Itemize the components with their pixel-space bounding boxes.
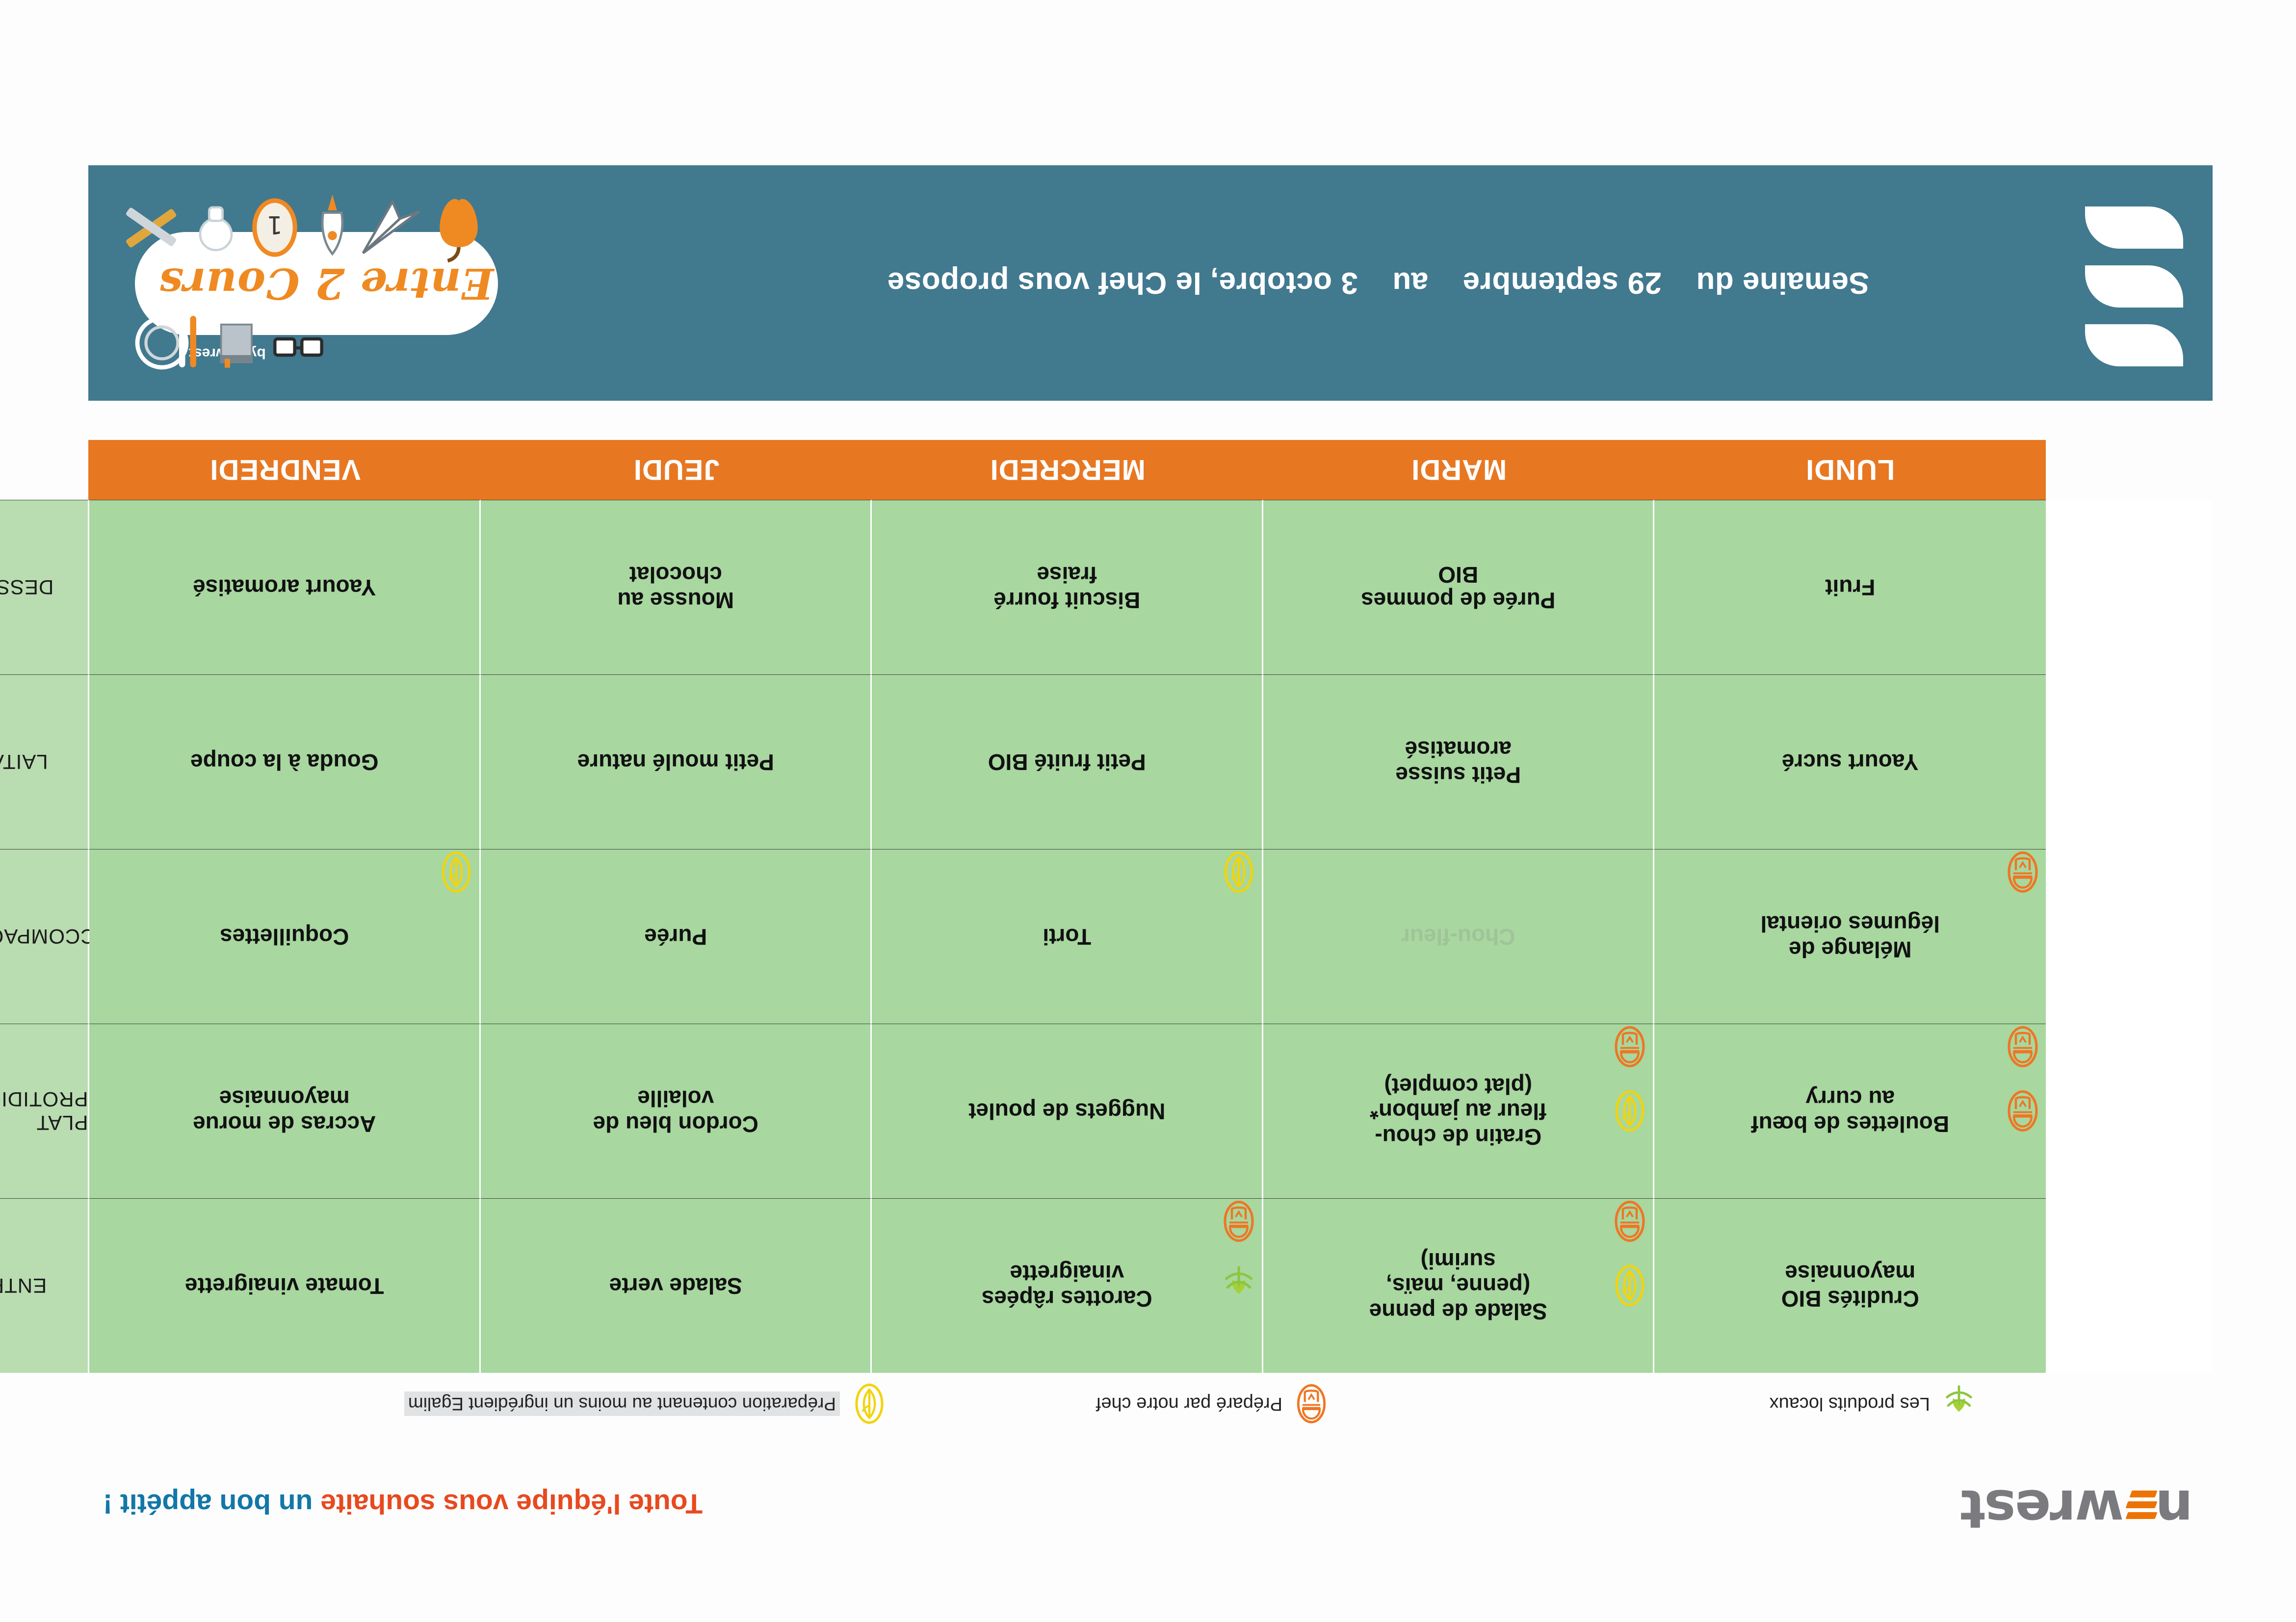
dish-name: Petit fruité BIO: [988, 749, 1146, 775]
menu-cell: Tomate vinaigrette: [90, 1198, 481, 1373]
newrest-n-mark-icon: [2061, 195, 2183, 371]
chef-hat-icon: [1220, 1201, 1258, 1242]
row-label-2: ACCOMPAGNEMENT: [0, 849, 90, 1024]
glasses-icon: [271, 322, 325, 366]
dish-name: Crudités BIO mayonnaise: [1781, 1261, 1919, 1311]
entre-2-cours-logo: Entre 2 Cours by newrest: [115, 186, 518, 382]
legend-bar: Les produits locaux Préparé par notre ch…: [88, 1377, 2213, 1431]
menu-grid: Crudités BIO mayonnaiseSalade de penne (…: [88, 500, 2213, 1373]
menu-cell: Mousse au chocolat: [481, 500, 872, 674]
chef-hat-icon: [2004, 1091, 2042, 1132]
week-date-end: 3 octobre: [1219, 266, 1358, 301]
menu-cell: Purée: [481, 849, 872, 1024]
dish-name: Torti: [1043, 924, 1091, 950]
dish-name: Salade de penne (penne, maïs, surimi): [1369, 1248, 1547, 1324]
dish-name: Yaourt aromatisé: [193, 575, 376, 600]
week-date-start: 29 septembre: [1462, 266, 1662, 301]
chef-hat-icon: [2004, 851, 2042, 893]
menu-cell: Cordon bleu de volaille: [481, 1024, 872, 1198]
appetit-blue-part: un bon appétit !: [103, 1488, 313, 1519]
day-header-lundi: LUNDI: [1655, 440, 2046, 500]
day-header-vendredi: VENDREDI: [90, 440, 481, 500]
legend-label-chef-prepared: Préparé par notre chef: [1096, 1393, 1282, 1415]
menu-cell: Mélange de légumes oriental: [1655, 849, 2046, 1024]
rocket-icon: [309, 190, 356, 258]
menu-cell: Nuggets de poulet: [872, 1024, 1264, 1198]
scanned-menu-sheet: nwrest Toute l'équipe vous souhaite un b…: [0, 0, 2296, 1622]
dish-name: Boulettes de bœuf au curry: [1751, 1086, 1949, 1136]
day-header-mardi: MARDI: [1263, 440, 1655, 500]
dish-name: Petit moulé nature: [577, 749, 774, 775]
menu-cell: Biscuit fourré fraise: [872, 500, 1264, 674]
wheat-ear-icon: [1220, 1265, 1258, 1307]
dish-name: Coquillettes: [220, 924, 349, 950]
day-label: MERCREDI: [990, 454, 1146, 487]
dish-name: Yaourt sucré: [1782, 749, 1919, 775]
row-label-3: LAITAGE: [0, 674, 90, 849]
grid-left-spacer: [2046, 849, 2213, 1024]
pencils-icon: [120, 196, 184, 259]
grid-left-spacer: [2046, 1024, 2213, 1198]
notebook-icon: [209, 317, 262, 371]
week-connector: au: [1392, 266, 1428, 301]
dish-name: Purée: [644, 924, 707, 950]
menu-cell: Chou-fleur: [1263, 849, 1655, 1024]
menu-cell: Purée de pommes BIO: [1263, 500, 1655, 674]
days-header-bar: LUNDIMARDIMERCREDIJEUDIVENDREDI: [88, 440, 2046, 500]
brand-text-n: n: [2156, 1478, 2193, 1539]
menu-cell: Accras de morue mayonnaise: [90, 1024, 481, 1198]
apple-icon: [429, 191, 488, 264]
egalim-leaf-icon: [1611, 1265, 1649, 1307]
egalim-leaf-icon: [1220, 851, 1258, 893]
plate-and-cutlery-icon: [130, 304, 204, 377]
newrest-logo: nwrest: [1961, 1482, 2193, 1535]
dish-name: Biscuit fourré fraise: [993, 562, 1140, 613]
day-label: MARDI: [1411, 454, 1507, 487]
dish-name: Mousse au chocolat: [617, 562, 734, 613]
egalim-leaf-icon: [437, 851, 475, 893]
dish-name: Salade verte: [609, 1273, 742, 1299]
menu-cell: Petit fruité BIO: [872, 674, 1264, 849]
menu-table: Crudités BIO mayonnaiseSalade de penne (…: [88, 500, 2213, 1373]
menu-cell: Torti: [872, 849, 1264, 1024]
week-suffix: , le Chef vous propose: [887, 266, 1219, 301]
menu-cell: Petit moulé nature: [481, 674, 872, 849]
brand-text-wrest: wrest: [1961, 1478, 2124, 1539]
menu-cell: Salade de penne (penne, maïs, surimi): [1263, 1198, 1655, 1373]
menu-cell: Boulettes de bœuf au curry: [1655, 1024, 2046, 1198]
menu-cell: Coquillettes: [90, 849, 481, 1024]
dish-name: Fruit: [1825, 575, 1875, 600]
dish-name: Cordon bleu de volaille: [593, 1086, 758, 1136]
legend-item-local-products: Les produits locaux: [1770, 1377, 1977, 1431]
day-label: VENDREDI: [209, 454, 361, 487]
grid-left-spacer: [2046, 500, 2213, 674]
wheat-ear-icon: [1941, 1384, 1977, 1423]
dish-name: Purée de pommes BIO: [1361, 562, 1555, 613]
bon-appetit-message: Toute l'équipe vous souhaite un bon appé…: [103, 1488, 703, 1520]
day-header-mercredi: MERCREDI: [872, 440, 1264, 500]
dish-name: Petit suisse aromatisé: [1395, 737, 1521, 787]
grid-left-spacer: [2046, 1198, 2213, 1373]
menu-cell: Carottes râpées vinaigrette: [872, 1198, 1264, 1373]
menu-cell: Yaourt sucré: [1655, 674, 2046, 849]
legend-label-local-products: Les produits locaux: [1770, 1393, 1930, 1415]
dish-name: Gratin de chou- fleur au jambon* (plat c…: [1370, 1073, 1546, 1149]
brand-e-bars-icon: [2124, 1488, 2156, 1524]
legend-item-egalim: Préparation contenant au moins un ingréd…: [404, 1377, 888, 1431]
chef-hat-icon: [1611, 1026, 1649, 1067]
dish-name: Mélange de légumes oriental: [1760, 911, 1940, 962]
lightbulb-icon: [189, 196, 243, 259]
chef-hat-icon: [1611, 1201, 1649, 1242]
clock-icon: 1: [248, 196, 302, 259]
dish-name: Chou-fleur: [1401, 924, 1515, 950]
row-label-4: DESSERT: [0, 500, 90, 674]
dish-name: Carottes râpées vinaigrette: [982, 1261, 1152, 1311]
page-header: nwrest Toute l'équipe vous souhaite un b…: [88, 1431, 2213, 1544]
dish-name: Gouda à la coupe: [190, 749, 378, 775]
menu-cell: Yaourt aromatisé: [90, 500, 481, 674]
chef-hat-icon: [2004, 1026, 2042, 1067]
day-label: JEUDI: [633, 454, 720, 487]
dish-name: Tomate vinaigrette: [185, 1273, 384, 1299]
menu-cell: Fruit: [1655, 500, 2046, 674]
dish-name: Nuggets de poulet: [968, 1099, 1165, 1124]
menu-page: nwrest Toute l'équipe vous souhaite un b…: [88, 62, 2213, 1544]
legend-item-chef-prepared: Préparé par notre chef: [1096, 1377, 1330, 1431]
legend-label-egalim: Préparation contenant au moins un ingréd…: [404, 1391, 840, 1416]
menu-cell: Gouda à la coupe: [90, 674, 481, 849]
menu-cell: Salade verte: [481, 1198, 872, 1373]
appetit-orange-part: Toute l'équipe vous souhaite: [313, 1488, 703, 1519]
day-label: LUNDI: [1805, 454, 1895, 487]
week-prefix: Semaine du: [1696, 266, 1869, 301]
dish-name: Accras de morue mayonnaise: [193, 1086, 376, 1136]
svg-text:1: 1: [267, 210, 283, 239]
row-label-0: ENTREE: [0, 1198, 90, 1373]
row-label-1: PLAT PROTIDIQUE: [0, 1024, 90, 1198]
week-text: Semaine du29 septembreau3 octobre, le Ch…: [887, 165, 1869, 401]
menu-cell: Petit suisse aromatisé: [1263, 674, 1655, 849]
egalim-leaf-icon: [1611, 1091, 1649, 1132]
chef-hat-icon: [1293, 1384, 1330, 1423]
menu-cell: Crudités BIO mayonnaise: [1655, 1198, 2046, 1373]
menu-cell: Gratin de chou- fleur au jambon* (plat c…: [1263, 1024, 1655, 1198]
day-header-jeudi: JEUDI: [481, 440, 872, 500]
grid-left-spacer: [2046, 674, 2213, 849]
week-banner: Semaine du29 septembreau3 octobre, le Ch…: [88, 165, 2213, 401]
egalim-leaf-icon: [851, 1384, 888, 1424]
paper-plane-icon: [351, 197, 424, 260]
